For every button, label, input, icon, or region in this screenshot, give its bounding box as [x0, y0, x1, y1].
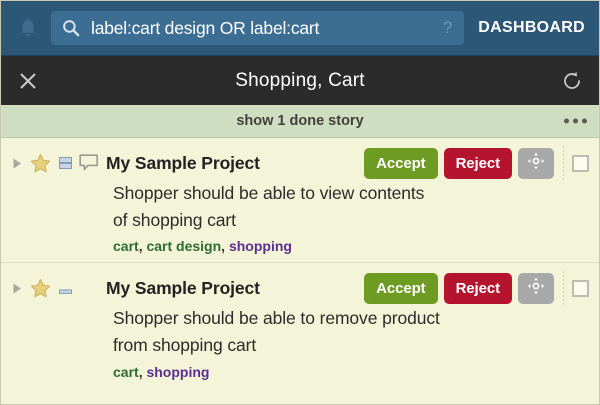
- story-labels: cart, cart design, shopping: [113, 238, 585, 254]
- story-label[interactable]: shopping: [229, 238, 292, 254]
- story-body: Shopper should be able to view contents …: [1, 178, 599, 254]
- bell-icon[interactable]: [15, 13, 41, 43]
- dashboard-link[interactable]: DASHBOARD: [478, 19, 589, 37]
- accept-button[interactable]: Accept: [364, 148, 437, 179]
- app-window: ? DASHBOARD Shopping, Cart show 1 done s…: [0, 0, 600, 405]
- story-select-checkbox[interactable]: [572, 280, 589, 297]
- search-icon: [61, 18, 81, 38]
- star-icon[interactable]: [28, 276, 52, 300]
- story-label[interactable]: cart: [113, 238, 139, 254]
- star-icon[interactable]: [28, 151, 52, 175]
- story-description: Shopper should be able to remove product…: [113, 305, 443, 359]
- actions-divider: [563, 146, 564, 180]
- story-header: My Sample Project Accept Reject: [1, 273, 599, 303]
- page-title: Shopping, Cart: [1, 70, 599, 92]
- story-description: Shopper should be able to view contents …: [113, 180, 443, 234]
- story-actions: Accept Reject: [364, 271, 593, 305]
- story-select-checkbox[interactable]: [572, 155, 589, 172]
- story-project-name[interactable]: My Sample Project: [106, 278, 260, 299]
- expand-triangle-icon[interactable]: [9, 280, 25, 296]
- story-label[interactable]: cart design: [146, 238, 221, 254]
- move-icon: [527, 277, 545, 299]
- accept-button[interactable]: Accept: [364, 273, 437, 304]
- expand-triangle-icon[interactable]: [9, 155, 25, 171]
- reject-button[interactable]: Reject: [444, 148, 512, 179]
- reject-button[interactable]: Reject: [444, 273, 512, 304]
- story-row: My Sample Project Accept Reject Shoppe: [1, 262, 599, 387]
- show-done-story-bar[interactable]: show 1 done story: [1, 105, 599, 138]
- move-icon: [527, 152, 545, 174]
- estimate-icon[interactable]: [57, 153, 73, 173]
- refresh-icon[interactable]: [561, 70, 583, 92]
- top-navigation-bar: ? DASHBOARD: [1, 1, 599, 55]
- story-body: Shopper should be able to remove product…: [1, 303, 599, 379]
- close-icon[interactable]: [17, 70, 39, 92]
- more-options-icon[interactable]: [564, 119, 587, 124]
- story-project-name[interactable]: My Sample Project: [106, 153, 260, 174]
- move-button[interactable]: [518, 148, 554, 179]
- estimate-icon[interactable]: [57, 278, 73, 298]
- story-actions: Accept Reject: [364, 146, 593, 180]
- story-label[interactable]: shopping: [146, 364, 209, 380]
- search-help-icon[interactable]: ?: [435, 18, 454, 38]
- show-done-story-label: show 1 done story: [236, 113, 363, 129]
- comment-bubble-icon[interactable]: [78, 153, 100, 173]
- search-box[interactable]: ?: [51, 11, 464, 45]
- actions-divider: [563, 271, 564, 305]
- story-label[interactable]: cart: [113, 364, 139, 380]
- story-header: My Sample Project Accept Reject: [1, 148, 599, 178]
- story-labels: cart, shopping: [113, 364, 585, 380]
- panel-title-bar: Shopping, Cart: [1, 55, 599, 105]
- search-input[interactable]: [91, 18, 435, 39]
- story-row: My Sample Project Accept Reject Shoppe: [1, 138, 599, 262]
- move-button[interactable]: [518, 273, 554, 304]
